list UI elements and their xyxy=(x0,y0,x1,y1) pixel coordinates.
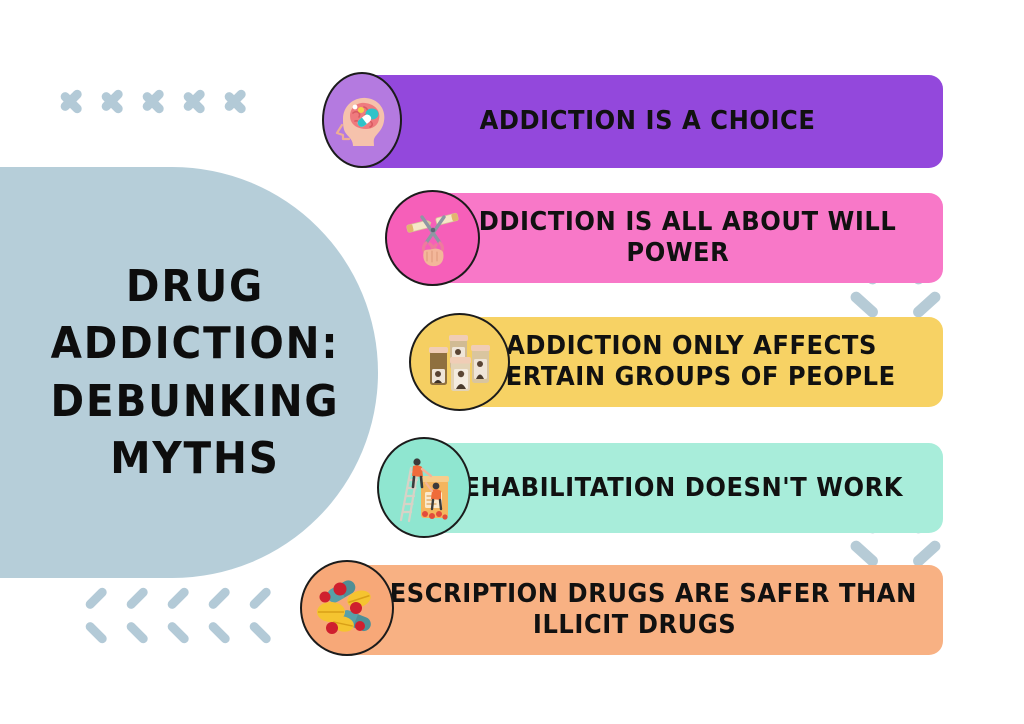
chevron-right-icon xyxy=(58,78,92,124)
chevron-left-icon xyxy=(137,592,171,638)
chevron-left-icon xyxy=(178,592,212,638)
myth-banner-1[interactable]: ADDICTION IS A CHOICE xyxy=(352,75,943,168)
head-brain-pills-icon xyxy=(331,89,393,151)
myth-banner-3[interactable]: ADDICTION ONLY AFFECTS CERTAIN GROUPS OF… xyxy=(440,317,943,407)
myth-icon-badge-2[interactable] xyxy=(385,190,480,286)
bottom-chevron-group xyxy=(55,592,253,638)
top-chevron-group xyxy=(58,78,256,124)
myth-text-3: ADDICTION ONLY AFFECTS CERTAIN GROUPS OF… xyxy=(487,331,895,392)
myth-banner-5[interactable]: PRESCRIPTION DRUGS ARE SAFER THAN ILLICI… xyxy=(326,565,943,655)
myth-text-4: REHABILITATION DOESN'T WORK xyxy=(444,473,903,504)
chevron-down-icon xyxy=(852,285,906,315)
chevron-down-icon xyxy=(852,534,906,564)
myth-text-2: ADDICTION IS ALL ABOUT WILL POWER xyxy=(459,207,896,268)
chevron-left-icon xyxy=(219,592,253,638)
myth-icon-badge-1[interactable] xyxy=(322,72,402,168)
assorted-pills-capsules-icon xyxy=(312,575,382,641)
scissors-cutting-cigarette-icon xyxy=(400,205,466,271)
myth-icon-badge-4[interactable] xyxy=(377,437,471,538)
myth-banner-2[interactable]: ADDICTION IS ALL ABOUT WILL POWER xyxy=(412,193,943,283)
chevron-right-icon xyxy=(140,78,174,124)
myth-text-1: ADDICTION IS A CHOICE xyxy=(480,106,816,137)
chevron-right-icon xyxy=(99,78,133,124)
chevron-right-icon xyxy=(181,78,215,124)
page-title: DRUG ADDICTION: DEBUNKING MYTHS xyxy=(52,167,337,578)
myth-banner-4[interactable]: REHABILITATION DOESN'T WORK xyxy=(404,443,943,533)
myth-icon-badge-3[interactable] xyxy=(409,313,510,411)
chevron-left-icon xyxy=(55,592,89,638)
chevron-right-icon xyxy=(222,78,256,124)
poster-canvas: DRUG ADDICTION: DEBUNKING MYTHS ADDICTIO… xyxy=(0,0,1024,724)
chevron-left-icon xyxy=(96,592,130,638)
pill-bottles-icon xyxy=(424,327,496,397)
person-ladder-pill-bottle-icon xyxy=(391,452,457,524)
myth-text-5: PRESCRIPTION DRUGS ARE SAFER THAN ILLICI… xyxy=(352,579,917,640)
myth-icon-badge-5[interactable] xyxy=(300,560,394,656)
